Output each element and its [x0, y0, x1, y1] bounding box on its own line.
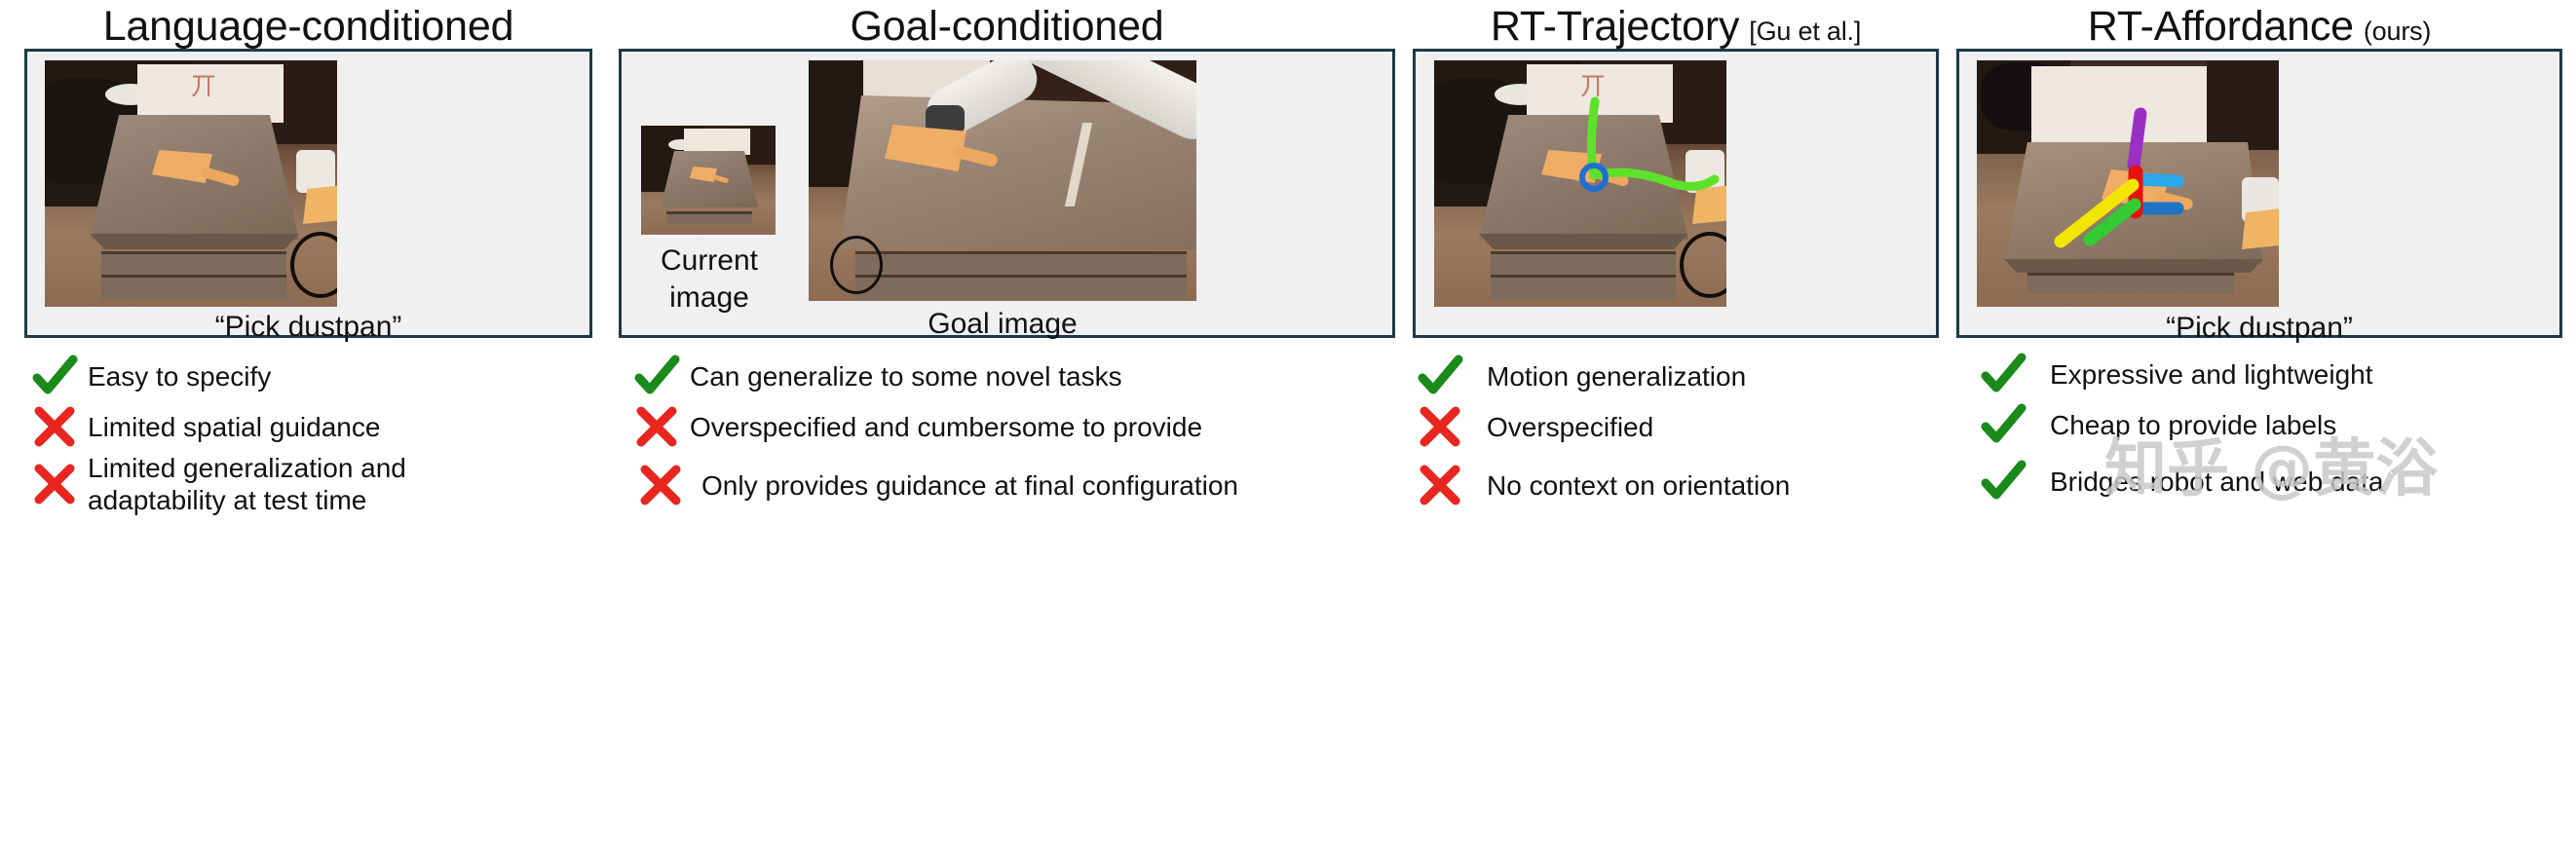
caption-rt-affordance: “Pick dustpan” [1959, 311, 2559, 346]
bullet-row: Overspecified [1415, 401, 1653, 452]
check-icon [1415, 351, 1465, 401]
bullet-row: Limited generalization and adaptability … [29, 452, 406, 516]
cross-icon [631, 401, 682, 452]
photo-scene-trajectory: 丌 [1434, 60, 1726, 307]
bullet-text: Bridges robot and web data [2050, 466, 2383, 498]
bullet-text: Overspecified and cumbersome to provide [690, 411, 1202, 443]
photo-current-image [641, 126, 776, 235]
column-title-goal-conditioned: Goal-conditioned [619, 0, 1395, 51]
bullet-text: Overspecified [1487, 411, 1653, 443]
check-icon [1978, 399, 2028, 450]
cross-icon [635, 460, 686, 510]
caption-goal-image: Goal image [809, 307, 1196, 342]
bullets-rt-affordance: Expressive and lightweight Cheap to prov… [1978, 349, 2572, 514]
bullet-text: Only provides guidance at final configur… [701, 469, 1238, 502]
trajectory-overlay [1434, 60, 1726, 307]
citation-label: [Gu et al.] [1749, 17, 1861, 46]
cross-icon [29, 401, 80, 452]
bullet-row: Overspecified and cumbersome to provide [631, 401, 1202, 452]
column-title-rt-affordance: RT-Affordance(ours) [1956, 0, 2562, 51]
column-goal-conditioned: Goal-conditioned [619, 0, 1395, 51]
bullet-text: Cheap to provide labels [2050, 409, 2336, 441]
bullet-text: Motion generalization [1487, 360, 1746, 392]
column-title-language-conditioned: Language-conditioned [24, 0, 592, 51]
ours-label: (ours) [2364, 17, 2431, 46]
title-text: Goal-conditioned [851, 3, 1164, 50]
title-text: RT-Affordance [2088, 3, 2354, 50]
bullet-text: Expressive and lightweight [2050, 358, 2373, 391]
affordance-overlay [1977, 60, 2279, 307]
bullet-text: Can generalize to some novel tasks [690, 360, 1122, 392]
affordance-finger-upper [2139, 179, 2178, 181]
cross-icon [1415, 401, 1465, 452]
bullets-goal-conditioned: Can generalize to some novel tasks Overs… [631, 351, 1401, 506]
check-icon [631, 351, 682, 401]
bullets-rt-trajectory: Motion generalization Overspecified No c… [1415, 351, 1941, 506]
cross-icon [29, 459, 80, 509]
column-rt-affordance: RT-Affordance(ours) [1956, 0, 2562, 51]
affordance-z-axis [2134, 114, 2140, 166]
panel-rt-trajectory: 丌 [1413, 49, 1939, 338]
bullet-row: Expressive and lightweight [1978, 349, 2373, 399]
title-text: RT-Trajectory [1491, 3, 1739, 50]
bullet-row: No context on orientation [1415, 460, 1790, 510]
photo-scene-language: 丌 [45, 60, 337, 307]
cross-icon [1415, 460, 1465, 510]
panel-language-conditioned: 丌 “Pick dustpan” [24, 49, 592, 338]
photo-scene-affordance [1977, 60, 2279, 307]
bullets-language-conditioned: Easy to specify Limited spatial guidance… [29, 351, 594, 506]
bullet-row: Can generalize to some novel tasks [631, 351, 1122, 401]
caption-language-conditioned: “Pick dustpan” [27, 310, 589, 345]
photo-goal-image [809, 60, 1196, 301]
bullet-text: Easy to specify [88, 360, 271, 392]
column-title-rt-trajectory: RT-Trajectory[Gu et al.] [1413, 0, 1939, 51]
bullet-row: Only provides guidance at final configur… [635, 460, 1238, 510]
panel-rt-affordance: “Pick dustpan” [1956, 49, 2562, 338]
check-icon [1978, 349, 2028, 399]
column-language-conditioned: Language-conditioned [24, 0, 592, 51]
bullet-text: Limited generalization and adaptability … [88, 452, 406, 516]
title-text: Language-conditioned [103, 3, 514, 50]
comparison-figure: Language-conditioned 丌 “Pick dustpan” [0, 0, 2576, 859]
column-rt-trajectory: RT-Trajectory[Gu et al.] [1413, 0, 1939, 51]
bullet-text: Limited spatial guidance [88, 411, 380, 443]
bullet-row: Limited spatial guidance [29, 401, 380, 452]
check-icon [1978, 456, 2028, 506]
bullet-row: Easy to specify [29, 351, 271, 401]
bullet-row: Cheap to provide labels [1978, 399, 2336, 450]
check-icon [29, 351, 80, 401]
bullet-row: Bridges robot and web data [1978, 456, 2383, 506]
panel-goal-conditioned: Current image Goal image [619, 49, 1395, 338]
bullet-text: No context on orientation [1487, 469, 1790, 502]
caption-current-image: Current image [631, 243, 787, 317]
bullet-row: Motion generalization [1415, 351, 1746, 401]
